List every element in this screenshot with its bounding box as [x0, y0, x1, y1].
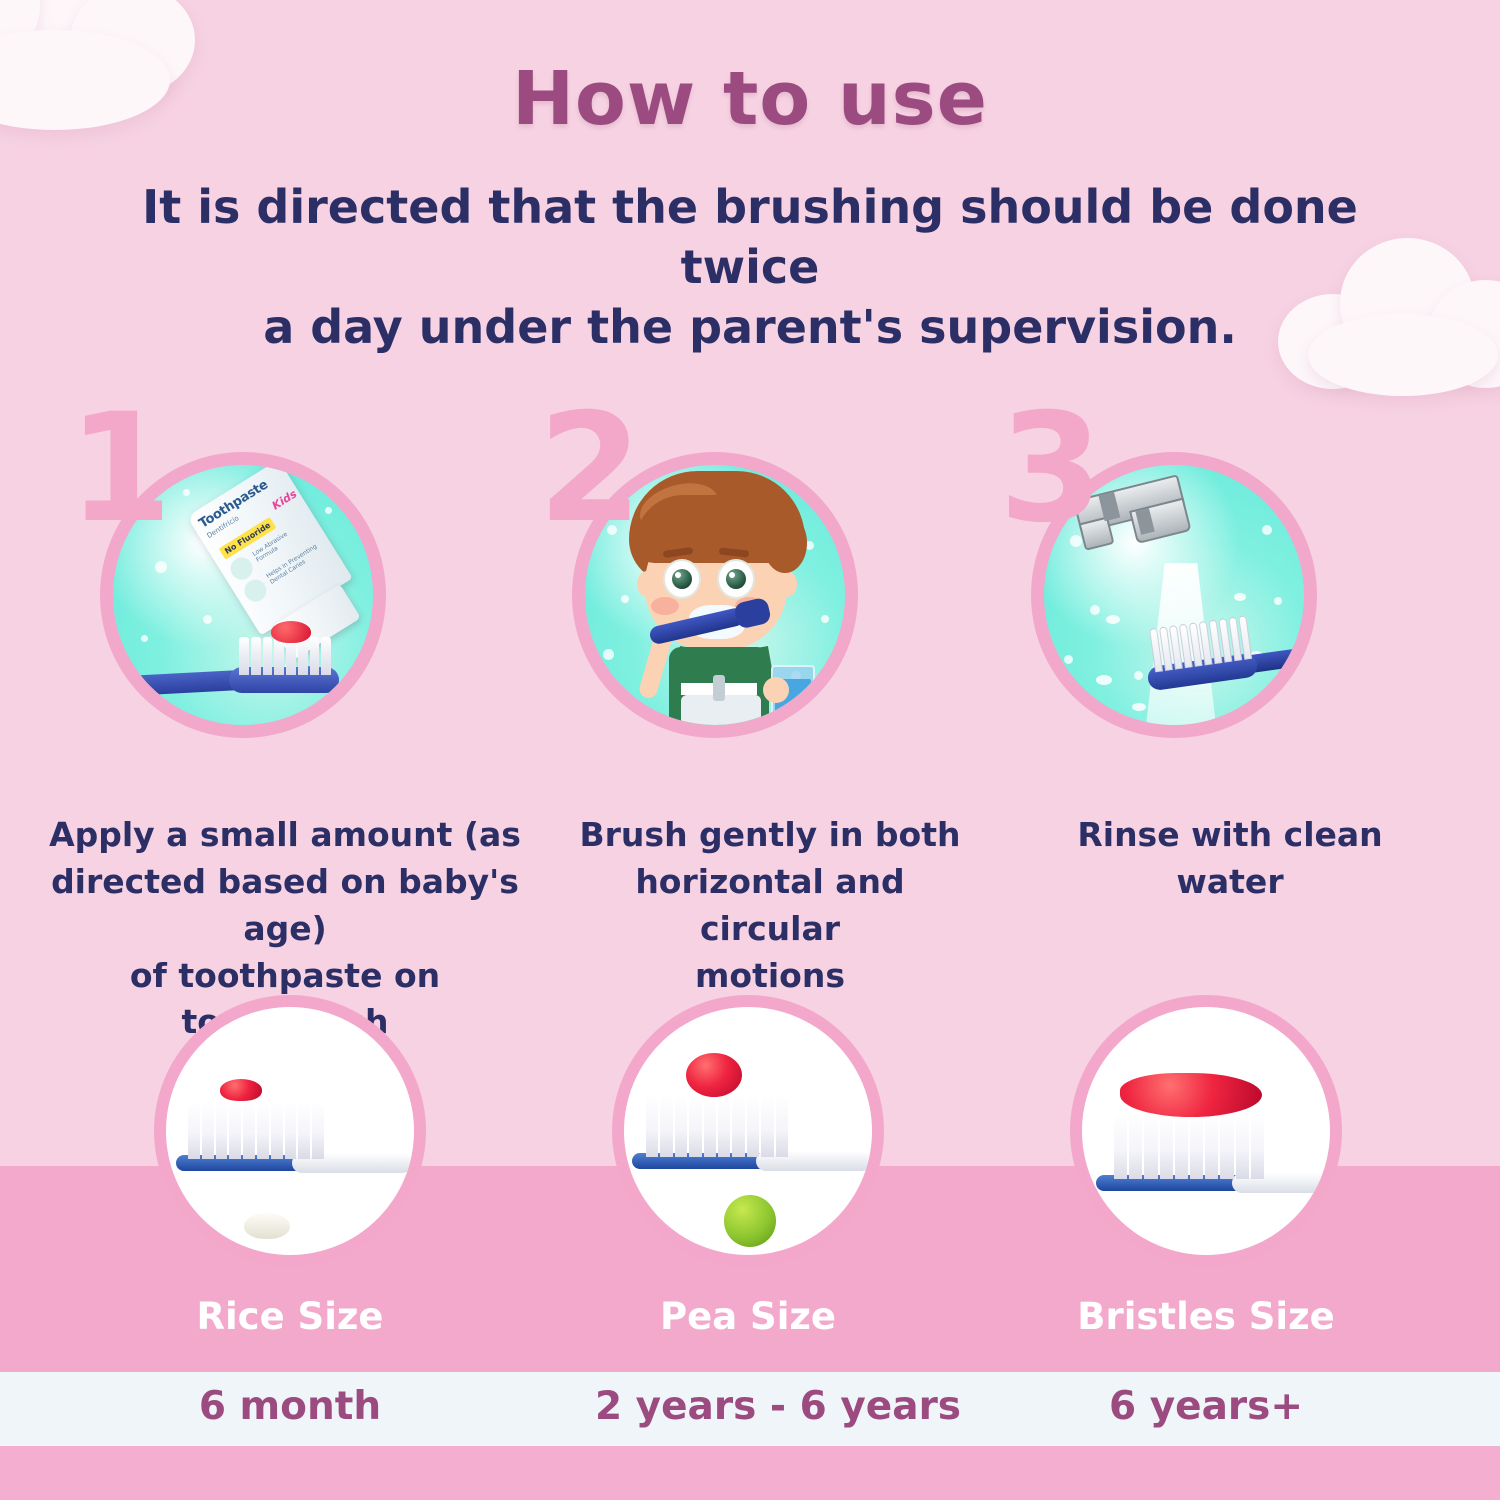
step-3-number: 3	[999, 394, 1103, 544]
how-to-use-infographic: How to use It is directed that the brush…	[0, 0, 1500, 1500]
page-subtitle: It is directed that the brushing should …	[120, 178, 1380, 357]
toothpaste-amount-pea	[686, 1053, 742, 1097]
size-label-bristles: Bristles Size	[1026, 1295, 1386, 1338]
steps-row: 1	[0, 400, 1500, 820]
age-label-pea: 2 years - 6 years	[568, 1384, 988, 1429]
size-label-row: Rice Size Pea Size Bristles Size	[0, 1295, 1500, 1355]
child-fringe	[635, 495, 799, 563]
caption-line: directed based on baby's age)	[40, 859, 530, 953]
green-pea-reference-icon	[724, 1195, 776, 1247]
step-2-caption: Brush gently in both horizontal and circ…	[570, 812, 970, 999]
toothbrush-icon	[121, 623, 361, 697]
step-1-number: 1	[68, 394, 172, 544]
age-label-rice: 6 month	[110, 1384, 470, 1429]
subtitle-line-1: It is directed that the brushing should …	[120, 178, 1380, 298]
caption-line: horizontal and circular	[570, 859, 970, 953]
page-title: How to use	[0, 56, 1500, 142]
toothpaste-amount-bristles	[1120, 1073, 1262, 1117]
step-2-number: 2	[538, 394, 642, 544]
caption-line: motions	[570, 953, 970, 1000]
age-label-bristles: 6 years+	[1026, 1384, 1386, 1429]
toothbrush-bristles	[1114, 1113, 1264, 1179]
rice-grain-reference-icon	[244, 1213, 290, 1239]
child-eye-right	[717, 559, 755, 599]
caption-line: Brush gently in both	[570, 812, 970, 859]
toothbrush-icon	[172, 1089, 412, 1181]
amount-row	[0, 995, 1500, 1275]
amount-pea-photo	[624, 1007, 872, 1255]
amount-rice-size-image	[154, 995, 426, 1267]
amount-rice-photo	[166, 1007, 414, 1255]
caption-line: Apply a small amount (as	[40, 812, 530, 859]
toothbrush-icon	[1086, 1103, 1330, 1207]
step-3-caption: Rinse with clean water	[1035, 812, 1425, 906]
toothpaste-dab	[271, 621, 311, 643]
caption-line: water	[1035, 859, 1425, 906]
caption-line: Rinse with clean	[1035, 812, 1425, 859]
amount-bristles-photo	[1082, 1007, 1330, 1255]
size-label-rice: Rice Size	[110, 1295, 470, 1338]
amount-bristles-size-image	[1070, 995, 1342, 1267]
toothbrush-bristles	[188, 1101, 324, 1159]
child-eye-left	[663, 559, 701, 599]
tube-feature-icon-2	[240, 575, 270, 605]
child-hand	[763, 677, 789, 703]
toothbrush-icon	[628, 1083, 872, 1179]
toothpaste-amount-rice	[220, 1079, 262, 1101]
toothbrush-bristles	[646, 1095, 788, 1157]
background-bottom-band	[0, 1446, 1500, 1500]
step-captions: Apply a small amount (as directed based …	[0, 812, 1500, 962]
subtitle-line-2: a day under the parent's supervision.	[120, 298, 1380, 358]
age-label-row: 6 month 2 years - 6 years 6 years+	[0, 1384, 1500, 1440]
tap-icon	[713, 675, 725, 701]
size-label-pea: Pea Size	[568, 1295, 928, 1338]
child-cheek-left	[651, 597, 679, 615]
amount-pea-size-image	[612, 995, 884, 1267]
